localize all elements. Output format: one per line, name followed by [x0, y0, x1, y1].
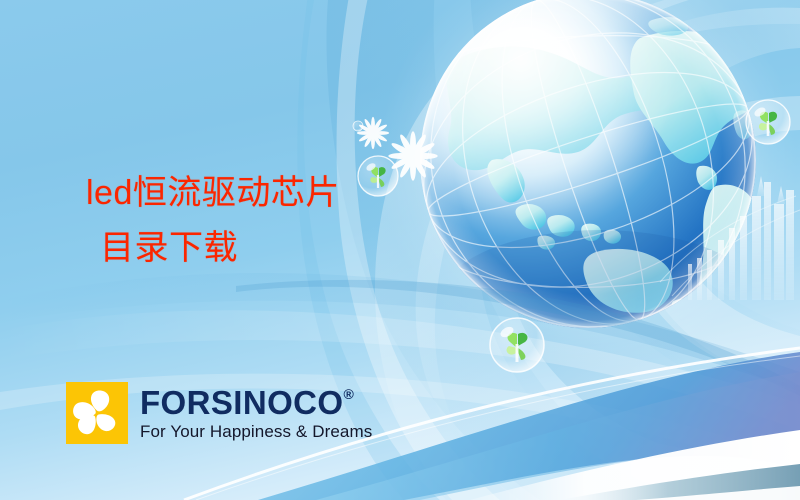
registered-trademark-icon: ®: [343, 387, 354, 401]
headline-text: led恒流驱动芯片 目录下载: [86, 166, 340, 276]
company-logo[interactable]: FORSINOCO ® For Your Happiness & Dreams: [66, 382, 372, 444]
logo-mark: [66, 382, 128, 444]
bubble: [353, 121, 363, 131]
bubble: [746, 100, 790, 144]
headline-line-2: 目录下载: [86, 221, 340, 276]
bubble: [358, 156, 398, 196]
logo-tagline: For Your Happiness & Dreams: [140, 423, 372, 442]
logo-wordmark: FORSINOCO ®: [140, 386, 372, 419]
bubble: [490, 318, 544, 372]
logo-wordmark-text: FORSINOCO: [140, 386, 343, 419]
pinwheel-flower-icon: [66, 382, 128, 444]
banner-image: led恒流驱动芯片 目录下载 FORSINOCO ® For Your Happ…: [0, 0, 800, 500]
logo-text-block: FORSINOCO ® For Your Happiness & Dreams: [140, 382, 372, 442]
headline-line-1: led恒流驱动芯片: [86, 166, 340, 221]
